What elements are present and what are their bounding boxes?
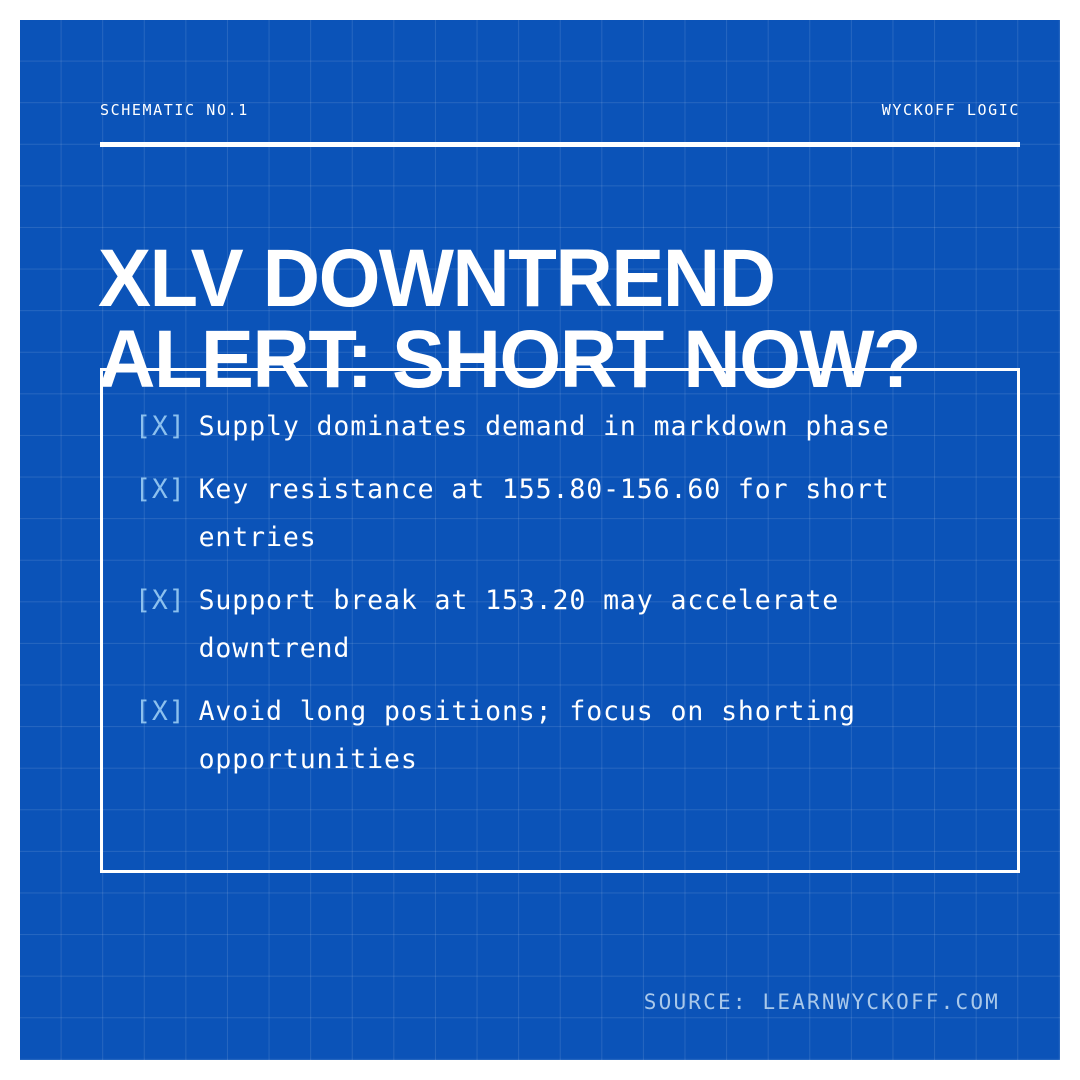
list-item: [X] Supply dominates demand in markdown … bbox=[135, 403, 989, 451]
page-title-line-1: XLV DOWNTREND bbox=[98, 238, 1000, 319]
list-item-label: Support break at 153.20 may accelerate d… bbox=[186, 577, 989, 673]
key-points-box: [X] Supply dominates demand in markdown … bbox=[100, 368, 1020, 873]
schematic-number-label: SCHEMATIC NO.1 bbox=[100, 103, 249, 118]
list-item-label: Key resistance at 155.80-156.60 for shor… bbox=[186, 466, 989, 562]
key-points-list: [X] Supply dominates demand in markdown … bbox=[135, 403, 989, 784]
checkbox-x-icon: [X] bbox=[135, 577, 186, 625]
checkbox-x-icon: [X] bbox=[135, 403, 186, 451]
list-item: [X] Avoid long positions; focus on short… bbox=[135, 688, 989, 784]
header-bar: SCHEMATIC NO.1 WYCKOFF LOGIC bbox=[100, 103, 1020, 118]
source-attribution: SOURCE: LEARNWYCKOFF.COM bbox=[644, 990, 1000, 1014]
checkbox-x-icon: [X] bbox=[135, 688, 186, 736]
header-divider bbox=[100, 142, 1020, 147]
poster-canvas: SCHEMATIC NO.1 WYCKOFF LOGIC XLV DOWNTRE… bbox=[0, 0, 1080, 1080]
list-item-label: Avoid long positions; focus on shorting … bbox=[186, 688, 989, 784]
brand-label: WYCKOFF LOGIC bbox=[882, 103, 1020, 118]
list-item: [X] Key resistance at 155.80-156.60 for … bbox=[135, 466, 989, 562]
checkbox-x-icon: [X] bbox=[135, 466, 186, 514]
list-item: [X] Support break at 153.20 may accelera… bbox=[135, 577, 989, 673]
blueprint-panel: SCHEMATIC NO.1 WYCKOFF LOGIC XLV DOWNTRE… bbox=[20, 20, 1060, 1060]
list-item-label: Supply dominates demand in markdown phas… bbox=[186, 403, 989, 451]
